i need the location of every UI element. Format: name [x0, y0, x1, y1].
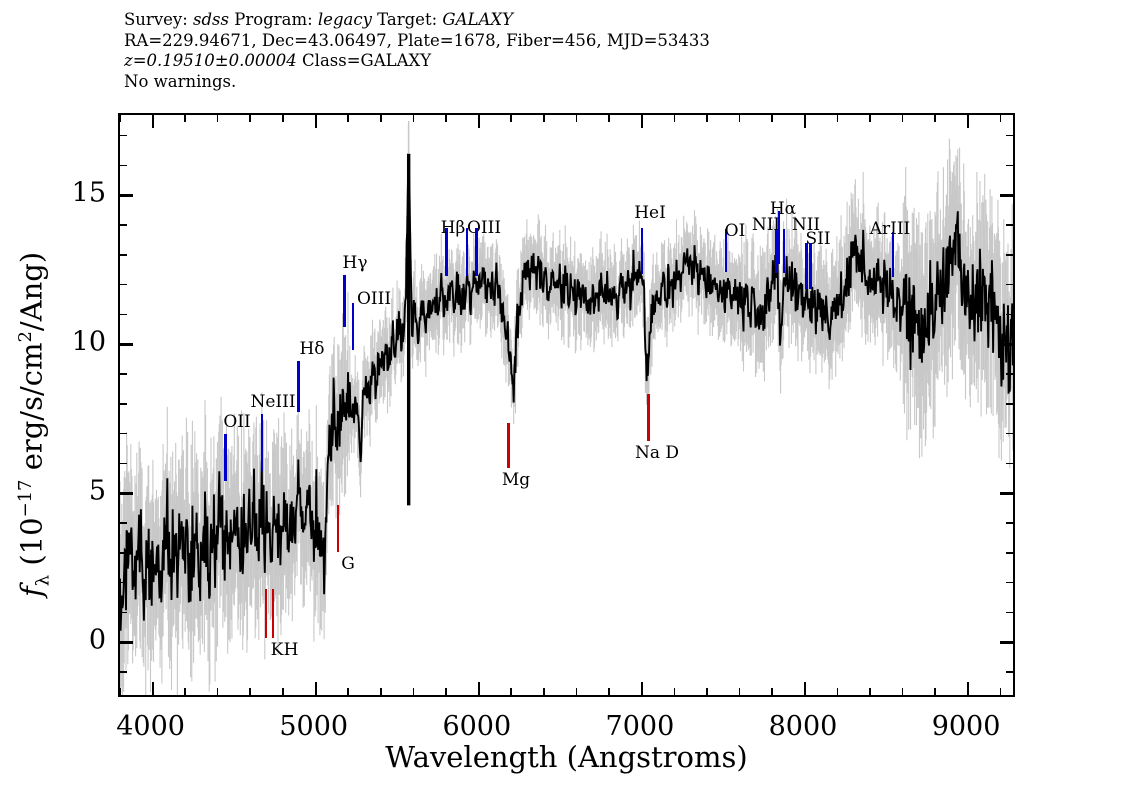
- target-label: Target:: [372, 10, 442, 29]
- y-tick-minor: [120, 433, 127, 435]
- x-tick-label: 4000: [116, 711, 185, 742]
- y-tick-major-right: [1000, 641, 1013, 643]
- line-label: Mg: [502, 470, 530, 490]
- y-tick-minor: [120, 671, 127, 673]
- y-tick-minor: [120, 403, 127, 405]
- line-marker-nii: [783, 229, 786, 273]
- y-tick-minor-right: [1006, 135, 1013, 137]
- y-tick-minor-right: [1006, 165, 1013, 167]
- x-tick-minor: [413, 688, 415, 695]
- target-value: GALAXY: [442, 10, 513, 29]
- x-tick-major-top: [478, 115, 480, 128]
- x-tick-minor: [902, 688, 904, 695]
- y-tick-minor-right: [1006, 552, 1013, 554]
- x-tick-minor: [347, 688, 349, 695]
- y-tick-minor-right: [1006, 522, 1013, 524]
- program-value: legacy: [318, 10, 372, 29]
- y-tick-minor-right: [1006, 284, 1013, 286]
- x-tick-minor-top: [543, 115, 545, 122]
- x-tick-major-top: [315, 115, 317, 128]
- x-tick-minor-top: [706, 115, 708, 122]
- line-label: HeI: [634, 203, 666, 223]
- y-tick-minor-right: [1006, 254, 1013, 256]
- y-tick-label: 5: [56, 476, 106, 507]
- y-tick-minor-right: [1006, 314, 1013, 316]
- y-tick-minor: [120, 552, 127, 554]
- y-tick-major: [120, 343, 133, 345]
- y-tick-label: 0: [56, 625, 106, 656]
- x-tick-minor-top: [510, 115, 512, 122]
- x-tick-minor: [445, 688, 447, 695]
- x-tick-major: [967, 682, 969, 695]
- x-tick-major: [152, 682, 154, 695]
- x-tick-minor: [608, 688, 610, 695]
- x-tick-minor: [184, 688, 186, 695]
- line-marker-oiii: [475, 228, 478, 276]
- x-tick-minor: [282, 688, 284, 695]
- line-label: OI: [725, 221, 746, 241]
- x-tick-minor-top: [282, 115, 284, 122]
- survey-label: Survey:: [124, 10, 193, 29]
- y-tick-minor: [120, 582, 127, 584]
- x-tick-minor: [510, 688, 512, 695]
- y-axis-units2: /Ang): [15, 252, 49, 331]
- x-tick-minor-top: [771, 115, 773, 122]
- y-tick-minor: [120, 314, 127, 316]
- x-tick-minor: [706, 688, 708, 695]
- line-label: Hβ: [441, 218, 466, 238]
- x-tick-major: [804, 682, 806, 695]
- y-tick-major-right: [1000, 343, 1013, 345]
- y-tick-minor: [120, 463, 127, 465]
- y-tick-major: [120, 641, 133, 643]
- line-marker-sii: [809, 243, 812, 289]
- x-tick-minor: [119, 688, 121, 695]
- line-marker-sii: [805, 243, 808, 289]
- x-tick-major-top: [641, 115, 643, 128]
- x-tick-minor-top: [902, 115, 904, 122]
- x-tick-major: [478, 682, 480, 695]
- x-tick-minor: [674, 688, 676, 695]
- x-tick-label: 8000: [769, 711, 838, 742]
- line-marker-h: [343, 275, 346, 327]
- line-marker-mg: [507, 423, 510, 468]
- y-tick-minor: [120, 284, 127, 286]
- x-tick-label: 7000: [606, 711, 675, 742]
- x-tick-minor: [217, 688, 219, 695]
- y-tick-minor: [120, 135, 127, 137]
- line-marker-oiii: [352, 303, 355, 350]
- x-tick-minor-top: [380, 115, 382, 122]
- x-tick-minor: [543, 688, 545, 695]
- line-label: H: [284, 640, 299, 660]
- y-tick-minor-right: [1006, 582, 1013, 584]
- y-tick-label: 15: [56, 178, 106, 209]
- line-marker-nad: [647, 394, 650, 441]
- line-label: ArIII: [870, 219, 911, 239]
- x-tick-minor-top: [217, 115, 219, 122]
- y-tick-minor: [120, 254, 127, 256]
- x-tick-label: 6000: [442, 711, 511, 742]
- y-tick-minor: [120, 612, 127, 614]
- x-tick-minor: [771, 688, 773, 695]
- x-tick-minor-top: [413, 115, 415, 122]
- y-tick-minor: [120, 224, 127, 226]
- x-tick-major: [315, 682, 317, 695]
- metadata-header: Survey: sdss Program: legacy Target: GAL…: [124, 10, 710, 92]
- y-tick-minor-right: [1006, 612, 1013, 614]
- redshift-value: z=0.19510±0.00004: [124, 51, 297, 70]
- x-axis-title: Wavelength (Angstroms): [118, 740, 1015, 774]
- x-tick-minor: [380, 688, 382, 695]
- x-tick-label: 5000: [279, 711, 348, 742]
- x-tick-minor-top: [184, 115, 186, 122]
- x-tick-minor-top: [739, 115, 741, 122]
- y-axis-exponent: −17: [15, 480, 36, 518]
- class-value: Class=GALAXY: [297, 51, 431, 70]
- x-tick-minor: [1000, 688, 1002, 695]
- header-line-survey: Survey: sdss Program: legacy Target: GAL…: [124, 10, 710, 31]
- line-label: Hδ: [299, 339, 324, 359]
- x-tick-major-top: [967, 115, 969, 128]
- x-tick-minor: [934, 688, 936, 695]
- x-tick-minor-top: [869, 115, 871, 122]
- x-tick-minor-top: [674, 115, 676, 122]
- x-tick-label: 9000: [932, 711, 1001, 742]
- x-tick-major: [641, 682, 643, 695]
- x-tick-minor: [739, 688, 741, 695]
- line-label: OIII: [357, 289, 391, 309]
- x-tick-minor-top: [249, 115, 251, 122]
- line-marker-g: [337, 505, 340, 552]
- line-label: NeIII: [250, 392, 295, 412]
- line-label: Hγ: [343, 253, 368, 273]
- x-tick-minor-top: [119, 115, 121, 122]
- x-tick-minor-top: [576, 115, 578, 122]
- x-tick-minor-top: [934, 115, 936, 122]
- y-tick-minor-right: [1006, 373, 1013, 375]
- y-tick-minor-right: [1006, 433, 1013, 435]
- line-marker-k: [265, 589, 268, 638]
- x-tick-minor-top: [608, 115, 610, 122]
- x-tick-minor: [869, 688, 871, 695]
- x-tick-major-top: [804, 115, 806, 128]
- y-axis-symbol: f: [15, 586, 49, 597]
- y-axis-paren: (10: [15, 517, 49, 574]
- x-tick-minor-top: [837, 115, 839, 122]
- header-line-warnings: No warnings.: [124, 72, 710, 93]
- line-label: G: [341, 554, 355, 574]
- x-tick-minor-top: [347, 115, 349, 122]
- y-tick-label: 10: [56, 327, 106, 358]
- x-tick-major-top: [152, 115, 154, 128]
- line-label: K: [271, 640, 284, 660]
- y-tick-major-right: [1000, 492, 1013, 494]
- y-tick-major: [120, 492, 133, 494]
- y-tick-minor: [120, 165, 127, 167]
- y-tick-minor-right: [1006, 463, 1013, 465]
- line-label: OIII: [467, 218, 501, 238]
- line-label: Na D: [635, 443, 679, 463]
- program-label: Program:: [229, 10, 318, 29]
- y-tick-minor-right: [1006, 403, 1013, 405]
- y-tick-minor-right: [1006, 671, 1013, 673]
- y-tick-major: [120, 194, 133, 196]
- header-line-redshift: z=0.19510±0.00004 Class=GALAXY: [124, 51, 710, 72]
- line-marker-hei: [641, 228, 644, 274]
- line-marker-h: [272, 589, 275, 638]
- y-axis-title: fλ (10−17 erg/s/cm2/Ang): [15, 144, 54, 704]
- y-axis-subscript: λ: [32, 575, 53, 586]
- line-marker-neiii: [261, 414, 264, 471]
- survey-value: sdss: [193, 10, 229, 29]
- y-tick-minor-right: [1006, 224, 1013, 226]
- y-tick-minor: [120, 373, 127, 375]
- header-line-coords: RA=229.94671, Dec=43.06497, Plate=1678, …: [124, 31, 710, 52]
- x-tick-minor-top: [445, 115, 447, 122]
- line-marker-oii: [224, 434, 227, 481]
- x-tick-minor-top: [1000, 115, 1002, 122]
- line-label: OII: [223, 412, 250, 432]
- y-axis-exponent2: 2: [15, 331, 36, 342]
- y-tick-minor: [120, 522, 127, 524]
- x-tick-minor: [249, 688, 251, 695]
- line-marker-h: [297, 361, 300, 412]
- x-tick-minor: [576, 688, 578, 695]
- y-tick-major-right: [1000, 194, 1013, 196]
- x-tick-minor: [837, 688, 839, 695]
- y-axis-units: erg/s/cm: [15, 343, 49, 480]
